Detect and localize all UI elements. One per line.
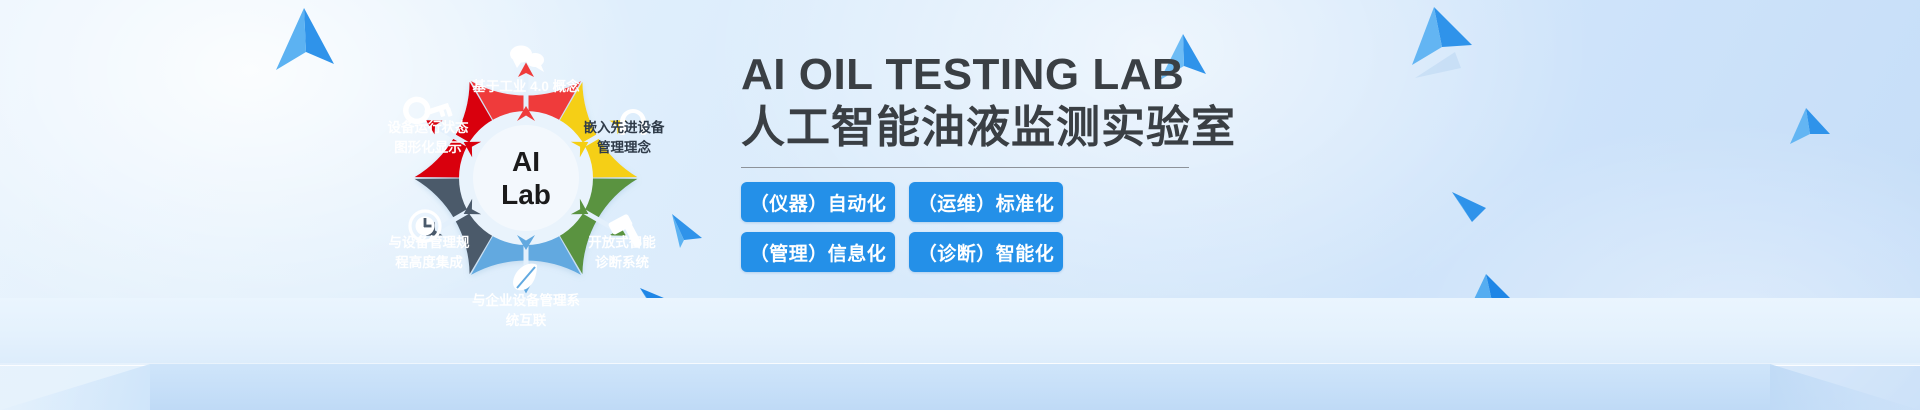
segment-label-industry40: 基于工业 4.0 概念 [472, 78, 580, 94]
segment-label-line2: 图形化显示 [394, 139, 462, 155]
segment-label-management-integration: 与设备管理规 程高度集成 [389, 234, 470, 270]
decor-triangle-1 [276, 8, 334, 70]
segment-label-line1: 基于工业 4.0 概念 [472, 78, 580, 94]
segment-label-line1: 开放式智能 [588, 234, 656, 250]
banner-root: AI Lab [0, 0, 1920, 410]
title-english: AI OIL TESTING LAB [741, 52, 1441, 99]
segment-label-line2: 诊断系统 [595, 254, 649, 270]
segment-label-line1: 设备运行状态 [388, 119, 469, 135]
segment-label-line2: 管理理念 [597, 139, 651, 155]
leaf-icon [513, 264, 537, 291]
wheel-infographic: AI Lab [356, 8, 696, 348]
feature-tag[interactable]: （管理）信息化 [741, 232, 895, 272]
decor-triangle-6 [1452, 192, 1486, 222]
decor-triangle-8 [1790, 108, 1830, 144]
hub-label-line2: Lab [501, 179, 551, 210]
title-chinese: 人工智能油液监测实验室 [741, 101, 1441, 155]
segment-label-line1: 嵌入先进设备 [584, 119, 665, 135]
feature-tag-list: （仪器）自动化 （运维）标准化 （管理）信息化 （诊断）智能化 [741, 182, 1071, 272]
segment-label-line1: 与企业设备管理系 [472, 292, 580, 308]
pedestal-platform [0, 298, 1920, 410]
hub-label-line1: AI [512, 146, 540, 177]
segment-label-open-diagnosis: 开放式智能 诊断系统 [588, 234, 656, 270]
feature-tag[interactable]: （诊断）智能化 [909, 232, 1063, 272]
content-block: AI OIL TESTING LAB 人工智能油液监测实验室 （仪器）自动化 （… [741, 52, 1441, 272]
feature-tag[interactable]: （仪器）自动化 [741, 182, 895, 222]
segment-label-enterprise-interconnect: 与企业设备管理系 统互联 [472, 292, 580, 328]
segment-label-line1: 与设备管理规 [389, 234, 470, 250]
hub-face [477, 129, 575, 227]
segment-label-line2: 程高度集成 [395, 254, 463, 270]
title-divider [741, 167, 1189, 168]
feature-tag[interactable]: （运维）标准化 [909, 182, 1063, 222]
segment-label-line2: 统互联 [506, 312, 547, 328]
